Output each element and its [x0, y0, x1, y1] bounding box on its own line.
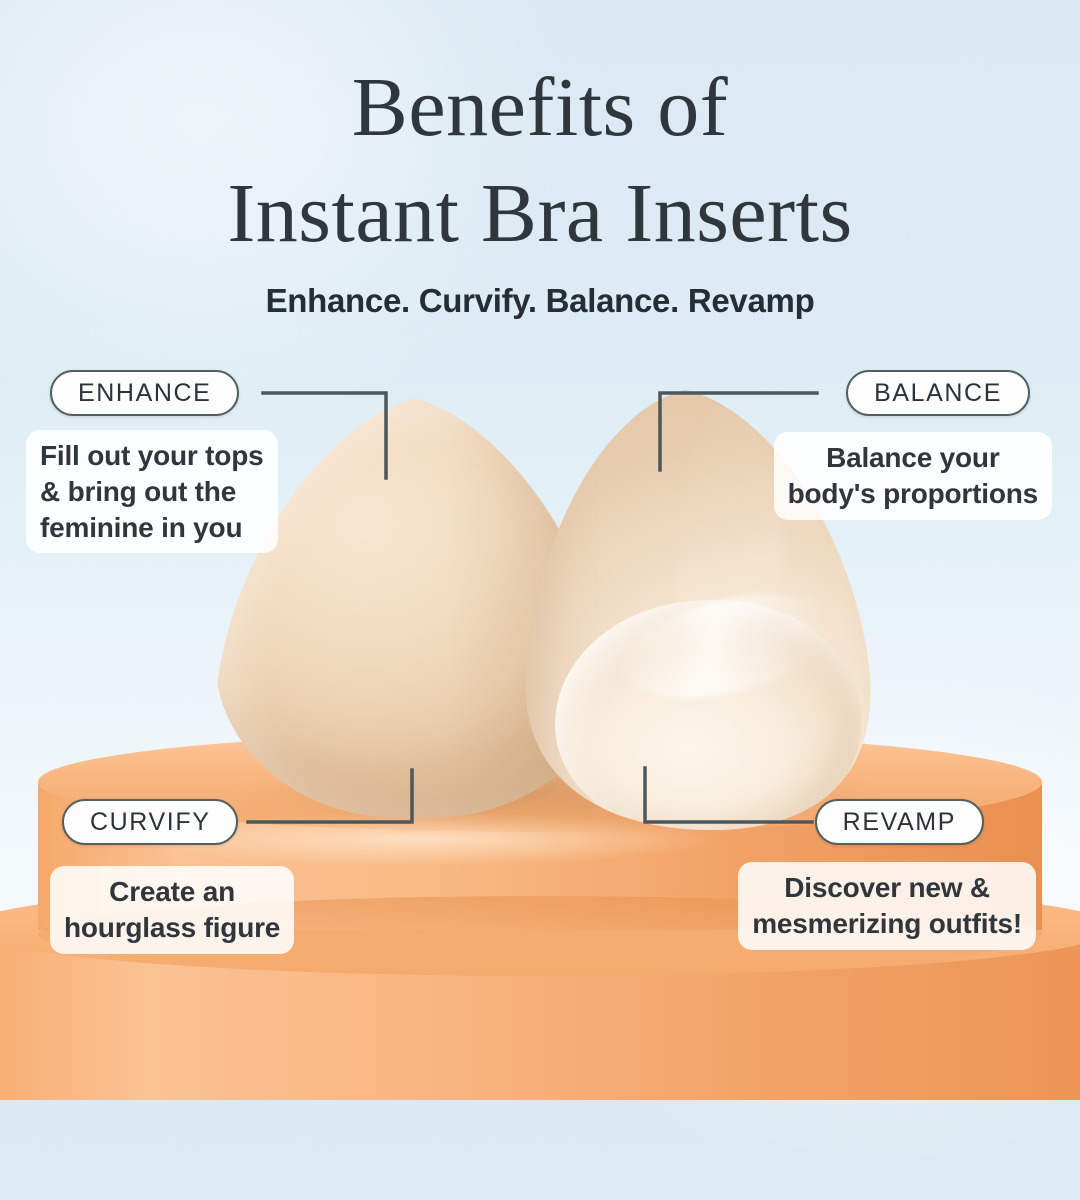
- callout-pill-curvify[interactable]: CURVIFY: [62, 799, 238, 845]
- connector-enhance: [263, 393, 386, 478]
- connector-curvify: [248, 770, 412, 822]
- callout-pill-balance[interactable]: BALANCE: [846, 370, 1030, 416]
- callout-pill-revamp[interactable]: REVAMP: [815, 799, 984, 845]
- connector-revamp: [645, 768, 812, 822]
- callout-description-balance: Balance your body's proportions: [774, 432, 1052, 520]
- callout-description-curvify: Create an hourglass figure: [50, 866, 294, 954]
- callout-description-enhance: Fill out your tops & bring out the femin…: [26, 430, 278, 553]
- callout-pill-enhance[interactable]: ENHANCE: [50, 370, 239, 416]
- callout-description-revamp: Discover new & mesmerizing outfits!: [738, 862, 1036, 950]
